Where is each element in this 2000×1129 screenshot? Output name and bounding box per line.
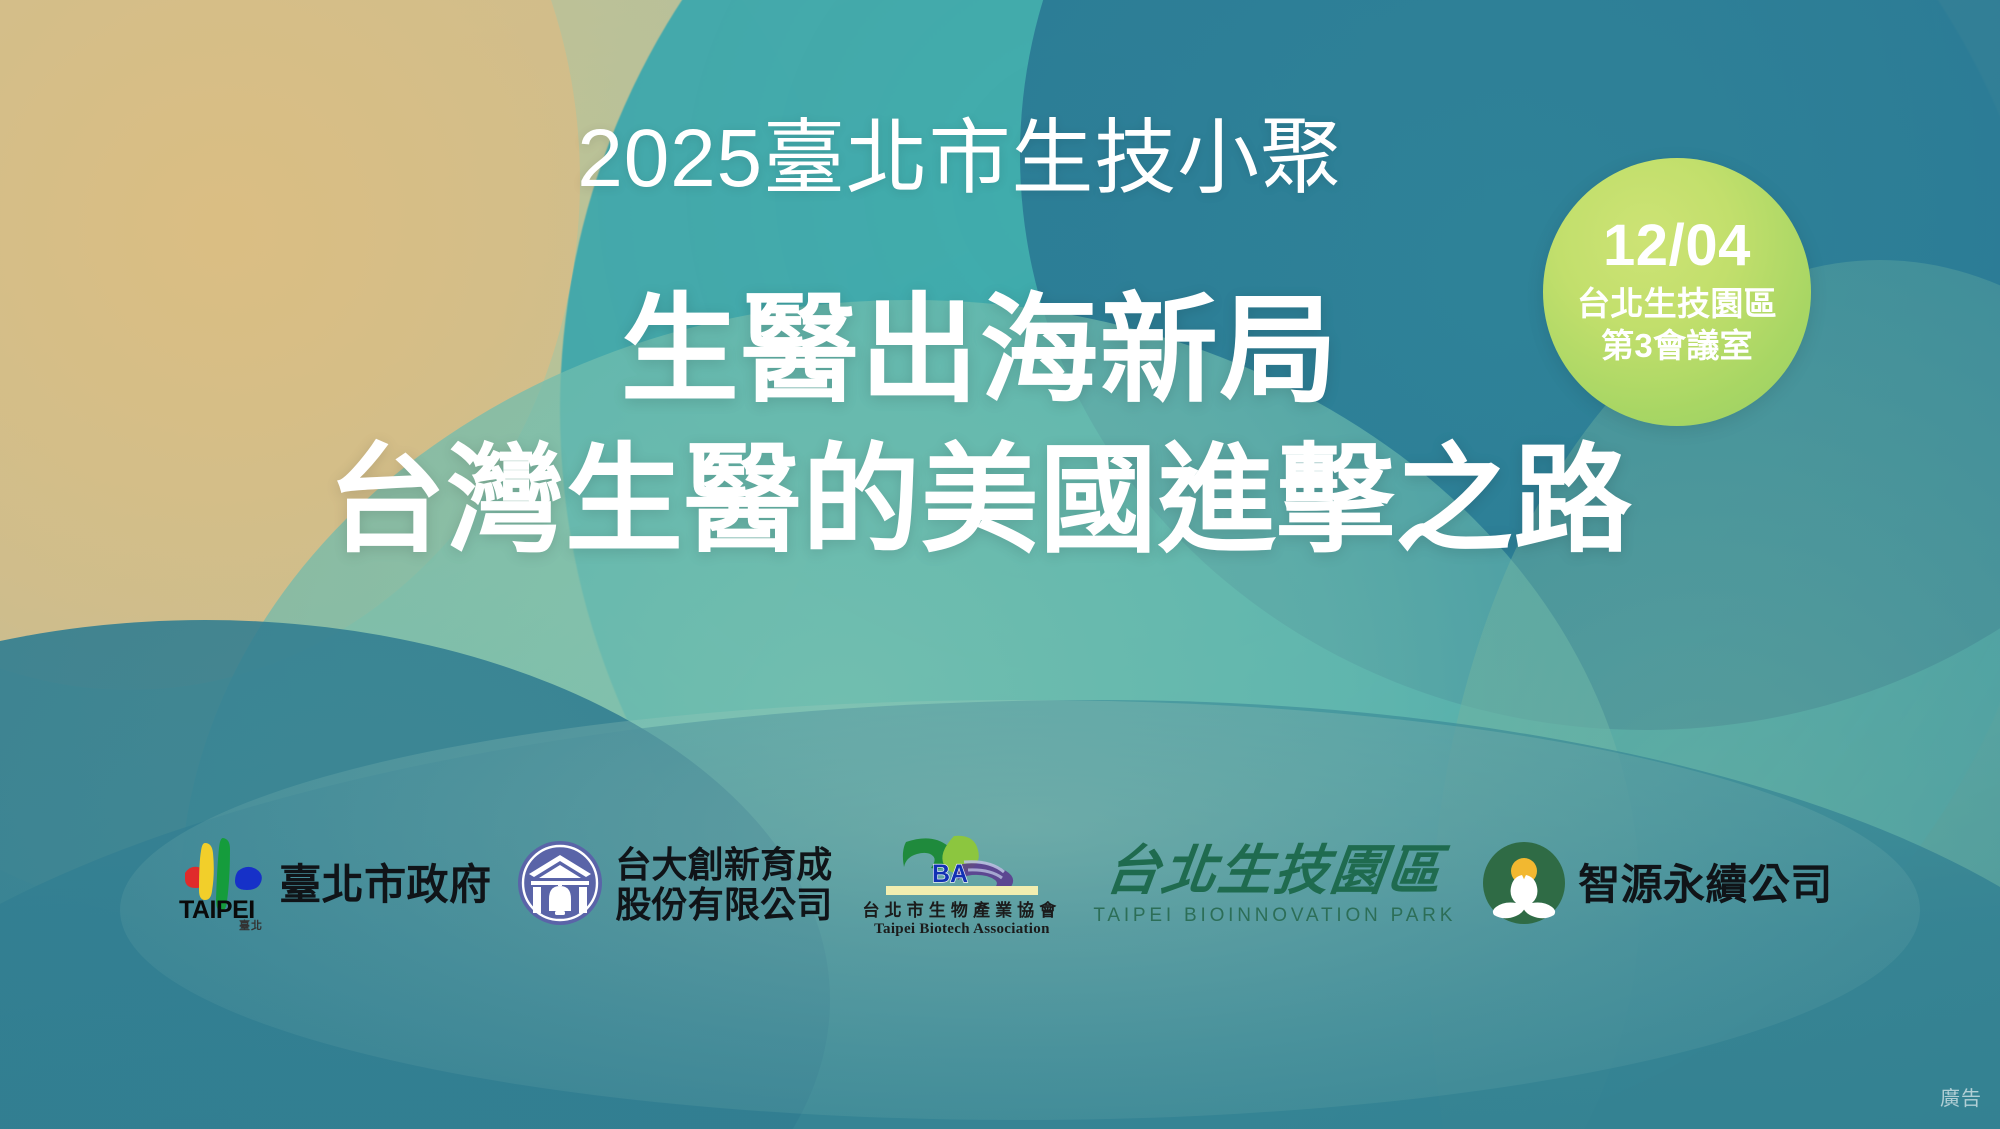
logo-label-biopark-english: TAIPEI BIOINNOVATION PARK (1093, 905, 1456, 927)
tba-highlight-bar (886, 886, 1038, 895)
badge-venue: 台北生技園區 (1577, 283, 1777, 325)
logo-label-ntu-innovation-incubator: 台大創新育成 股份有限公司 (615, 845, 832, 926)
headline-line-2: 台灣生醫的美國進擊之路 (0, 430, 1960, 574)
svg-text:臺北: 臺北 (239, 918, 263, 931)
date-venue-badge: 12/04 台北生技園區 第3會議室 (1543, 158, 1811, 426)
logo-taipei-bioinnovation-park: 台北生技園區 TAIPEI BIOINNOVATION PARK (1093, 844, 1456, 927)
logo-taipei-city-government: TAIPEI 臺北 臺北市政府 (177, 835, 491, 936)
taipei-brushstroke-icon: TAIPEI 臺北 (177, 835, 267, 936)
swan-sun-circle-icon (1482, 841, 1566, 930)
svg-text:BA: BA (932, 860, 968, 888)
logo-strip: TAIPEI 臺北 臺北市政府 (0, 820, 2000, 950)
event-poster: 2025臺北市生技小聚 生醫出海新局 台灣生醫的美國進擊之路 12/04 台北生… (0, 0, 2000, 1129)
badge-date: 12/04 (1603, 217, 1751, 275)
logo-label-tba-english: Taipei Biotech Association (874, 921, 1050, 938)
logo-label-biopark-chinese: 台北生技園區 (1103, 844, 1447, 898)
badge-room: 第3會議室 (1601, 325, 1753, 367)
logo-ntu-innovation-incubator: 台大創新育成 股份有限公司 (517, 840, 832, 931)
logo-label-tba-chinese: 台北市生物產業協會 (862, 896, 1061, 921)
logo-label-taipei-city-government: 臺北市政府 (279, 861, 491, 908)
logo-label-chihyuan-sustainability: 智源永續公司 (1578, 861, 1833, 908)
advertisement-watermark: 廣告 (1940, 1082, 1982, 1111)
ntu-bell-building-icon (517, 840, 603, 931)
logo-chihyuan-sustainability: 智源永續公司 (1482, 841, 1833, 930)
logo-taipei-biotech-association: BA 台北市生物產業協會 Taipei Biotech Association (862, 832, 1061, 938)
